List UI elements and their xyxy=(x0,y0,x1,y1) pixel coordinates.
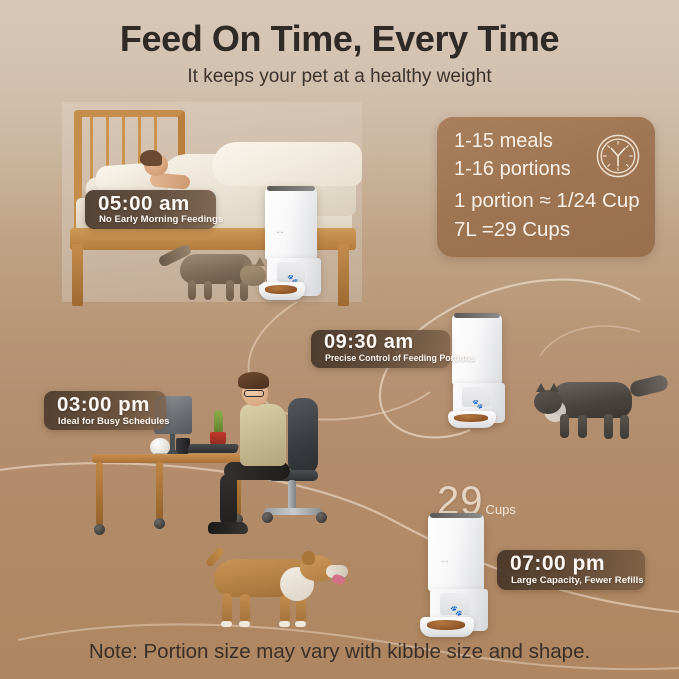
infographic-canvas: ▪▫▪ 🐾 05:00 am No Early Morning Feedings… xyxy=(0,0,679,679)
dog-paw xyxy=(295,621,306,627)
cat-ear xyxy=(536,383,546,392)
dog-paw xyxy=(239,621,250,627)
spec-card: 1-15 meals 1-16 portions 1 portion ≈ 1/2… xyxy=(437,117,655,257)
sleeping-person-hair xyxy=(140,150,162,166)
desk-leg xyxy=(156,462,163,520)
kibble xyxy=(454,414,488,422)
feeder-brand-logo: ▪▫▪ xyxy=(442,559,449,565)
time-badge-mid-morning: 09:30 am Precise Control of Feeding Port… xyxy=(311,330,450,368)
feeder-bowl xyxy=(420,617,474,637)
scene-office xyxy=(92,358,352,568)
cat-leg xyxy=(188,280,196,300)
time-badge-afternoon: 03:00 pm Ideal for Busy Schedules xyxy=(44,391,166,430)
time-caption: Ideal for Busy Schedules xyxy=(58,415,170,426)
feeder-hopper xyxy=(452,313,502,385)
spec-capacity: 7L =29 Cups xyxy=(454,218,570,242)
desk-caster xyxy=(94,524,105,535)
time-badge-evening: 07:00 pm Large Capacity, Fewer Refills xyxy=(497,550,645,590)
person-shoe xyxy=(208,522,248,534)
desk-caster xyxy=(154,518,165,529)
person-hair xyxy=(238,372,269,389)
time-label: 09:30 am xyxy=(324,331,414,354)
cat-leg xyxy=(620,415,629,439)
feeder-bowl xyxy=(448,411,496,428)
spec-meals: 1-15 meals xyxy=(454,130,553,153)
cat-leg xyxy=(604,414,613,439)
bed-leg xyxy=(338,244,349,306)
pet-feeder-device: ▪▫▪ 🐾 xyxy=(452,313,524,431)
duvet-fold xyxy=(212,142,362,186)
page-subtitle: It keeps your pet at a healthy weight xyxy=(0,66,679,88)
kibble xyxy=(427,620,465,630)
clock-icon xyxy=(595,133,641,179)
time-badge-morning: 05:00 am No Early Morning Feedings xyxy=(85,190,216,229)
cat-ear xyxy=(255,257,265,266)
dog-leg xyxy=(222,593,232,623)
dog-leg xyxy=(240,594,250,623)
cat-ear xyxy=(549,383,559,392)
chair-caster xyxy=(262,512,273,523)
time-caption: Precise Control of Feeding Portions xyxy=(325,353,475,363)
time-label: 07:00 pm xyxy=(510,552,605,576)
desk-leg xyxy=(96,462,103,526)
feeder-lid xyxy=(430,513,482,518)
feeder-lid xyxy=(454,313,500,318)
time-label: 03:00 pm xyxy=(57,393,150,417)
desk-surface xyxy=(92,454,248,463)
feeder-lid xyxy=(267,186,315,191)
office-chair-post xyxy=(288,480,296,510)
office-chair-base xyxy=(264,508,322,515)
cat-leg xyxy=(560,414,569,438)
time-caption: Large Capacity, Fewer Refills xyxy=(511,575,644,586)
dog-paw xyxy=(221,621,232,627)
bed-leg xyxy=(72,244,83,306)
office-chair-back xyxy=(288,398,318,474)
cat-tabby xyxy=(160,248,278,304)
spec-portions: 1-16 portions xyxy=(454,158,571,181)
keyboard xyxy=(187,444,239,453)
dog-ear xyxy=(302,551,315,565)
paw-print-icon: 🐾 xyxy=(450,606,462,617)
cat-fluffy xyxy=(534,378,662,444)
time-caption: No Early Morning Feedings xyxy=(99,214,223,225)
person-shin xyxy=(220,474,237,526)
cat-head xyxy=(240,264,266,286)
cat-head xyxy=(534,390,562,414)
eyeglasses xyxy=(244,390,264,397)
page-title: Feed On Time, Every Time xyxy=(0,18,679,60)
pet-feeder-device: ▪▫▪ 🐾 xyxy=(428,513,508,639)
feeder-brand-logo: ▪▫▪ xyxy=(277,230,284,236)
time-label: 05:00 am xyxy=(98,192,190,216)
footer-note: Note: Portion size may vary with kibble … xyxy=(0,640,679,664)
paw-print-icon: 🐾 xyxy=(472,399,483,410)
cat-leg xyxy=(578,415,587,438)
dog-paw xyxy=(279,621,290,627)
cat-leg xyxy=(226,280,234,301)
cat-leg xyxy=(204,281,212,300)
dog xyxy=(196,551,354,629)
chair-caster xyxy=(316,512,327,523)
spec-portion-size: 1 portion ≈ 1/24 Cup xyxy=(454,189,640,213)
cat-ear xyxy=(242,257,252,266)
feeder-hopper xyxy=(428,513,484,591)
